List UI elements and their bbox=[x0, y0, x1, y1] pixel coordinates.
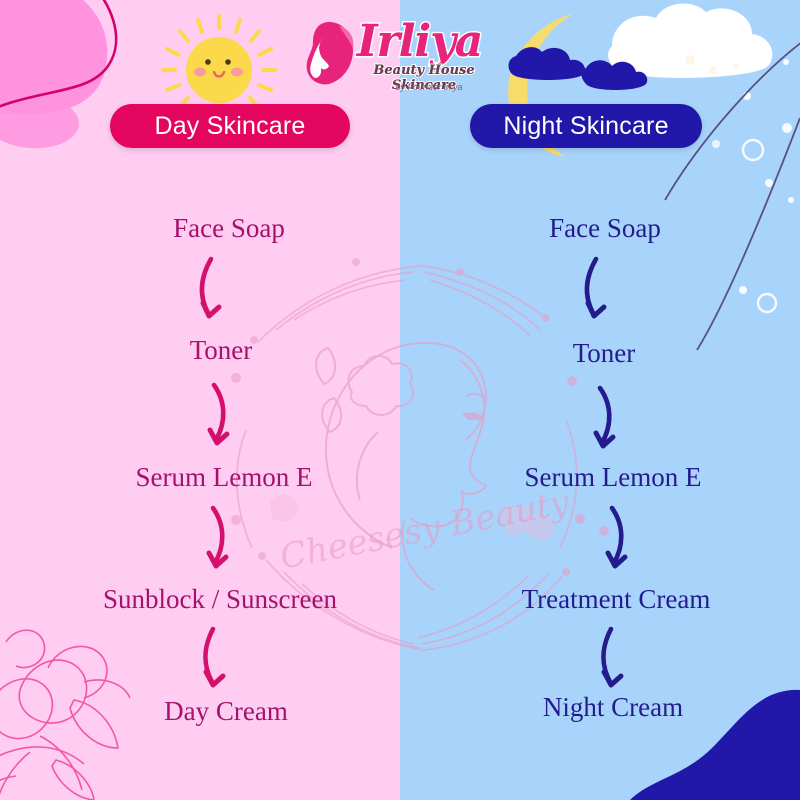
day-step-3: Serum Lemon E bbox=[136, 462, 313, 493]
day-skincare-title: Day Skincare bbox=[110, 104, 350, 148]
skincare-routine-infographic: Irliya Irliya Beauty House Skincare Beau… bbox=[0, 0, 800, 800]
brand-logo: Irliya Irliya Beauty House Skincare Beau… bbox=[297, 8, 503, 104]
night-step-5: Night Cream bbox=[543, 692, 683, 723]
night-step-2: Toner bbox=[573, 338, 636, 369]
night-skincare-title: Night Skincare bbox=[470, 104, 702, 148]
logo-name: Irliya bbox=[357, 16, 482, 67]
night-step-3: Serum Lemon E bbox=[525, 462, 702, 493]
day-step-2: Toner bbox=[190, 335, 253, 366]
day-step-1: Face Soap bbox=[173, 213, 285, 244]
day-step-4: Sunblock / Sunscreen bbox=[103, 584, 337, 615]
night-step-4: Treatment Cream bbox=[522, 584, 711, 615]
night-step-1: Face Soap bbox=[549, 213, 661, 244]
day-step-5: Day Cream bbox=[164, 696, 288, 727]
logo-credit: by Founder Irliya bbox=[349, 82, 509, 92]
